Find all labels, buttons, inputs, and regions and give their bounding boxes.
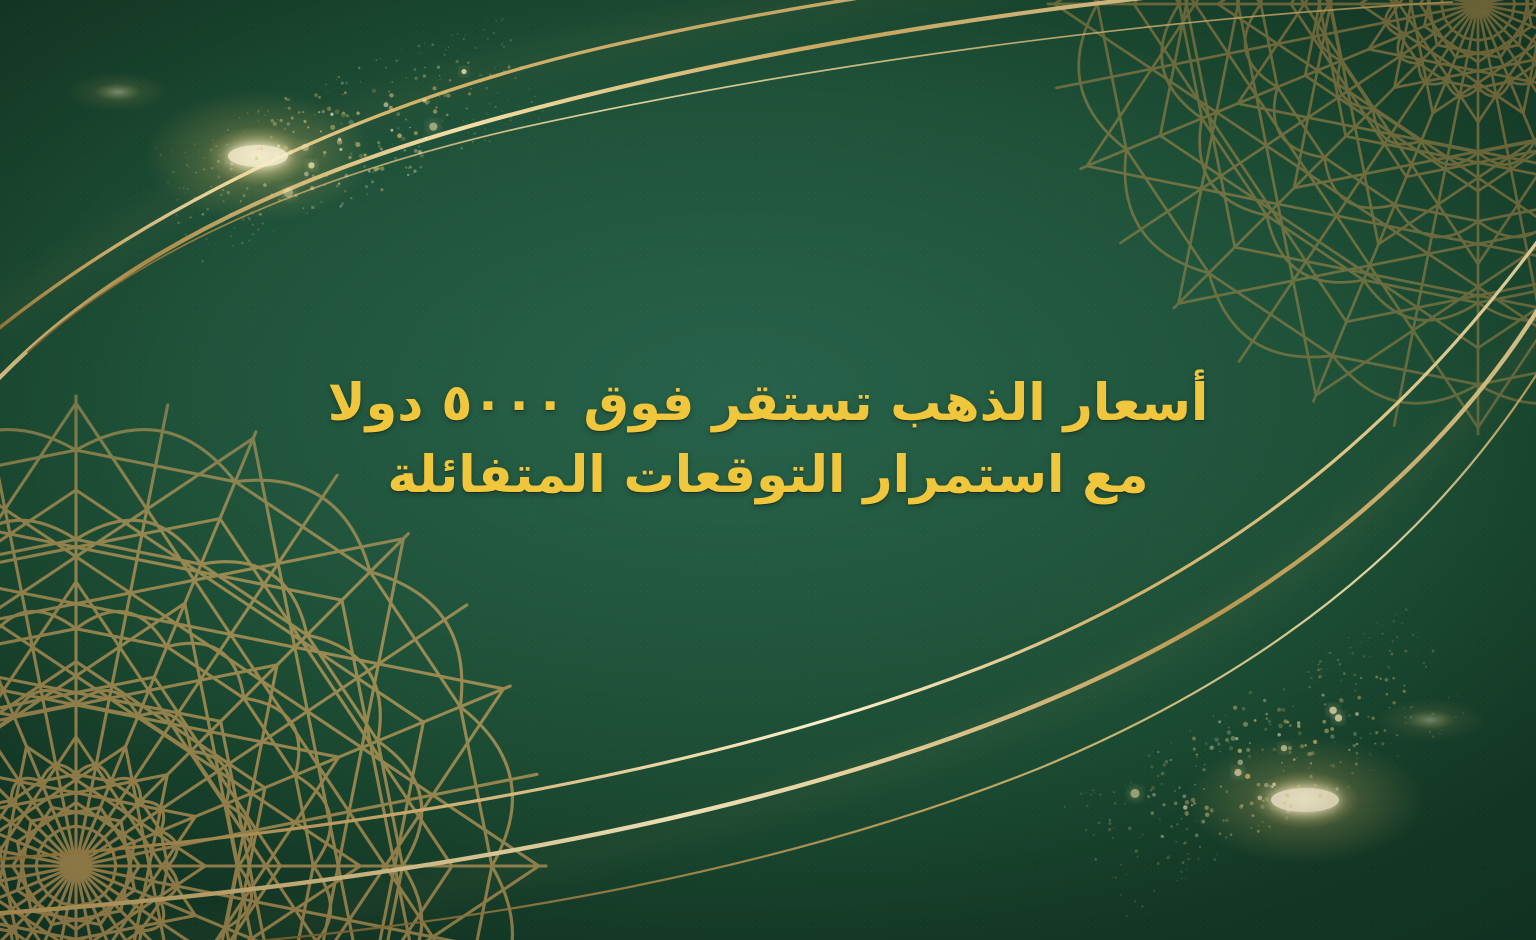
headline-block: أسعار الذهب تستقر فوق ٥٠٠٠ دولا مع استمر… <box>0 368 1536 513</box>
page-title: أسعار الذهب تستقر فوق ٥٠٠٠ دولا مع استمر… <box>308 368 1228 513</box>
poster-canvas: أسعار الذهب تستقر فوق ٥٠٠٠ دولا مع استمر… <box>0 0 1536 940</box>
